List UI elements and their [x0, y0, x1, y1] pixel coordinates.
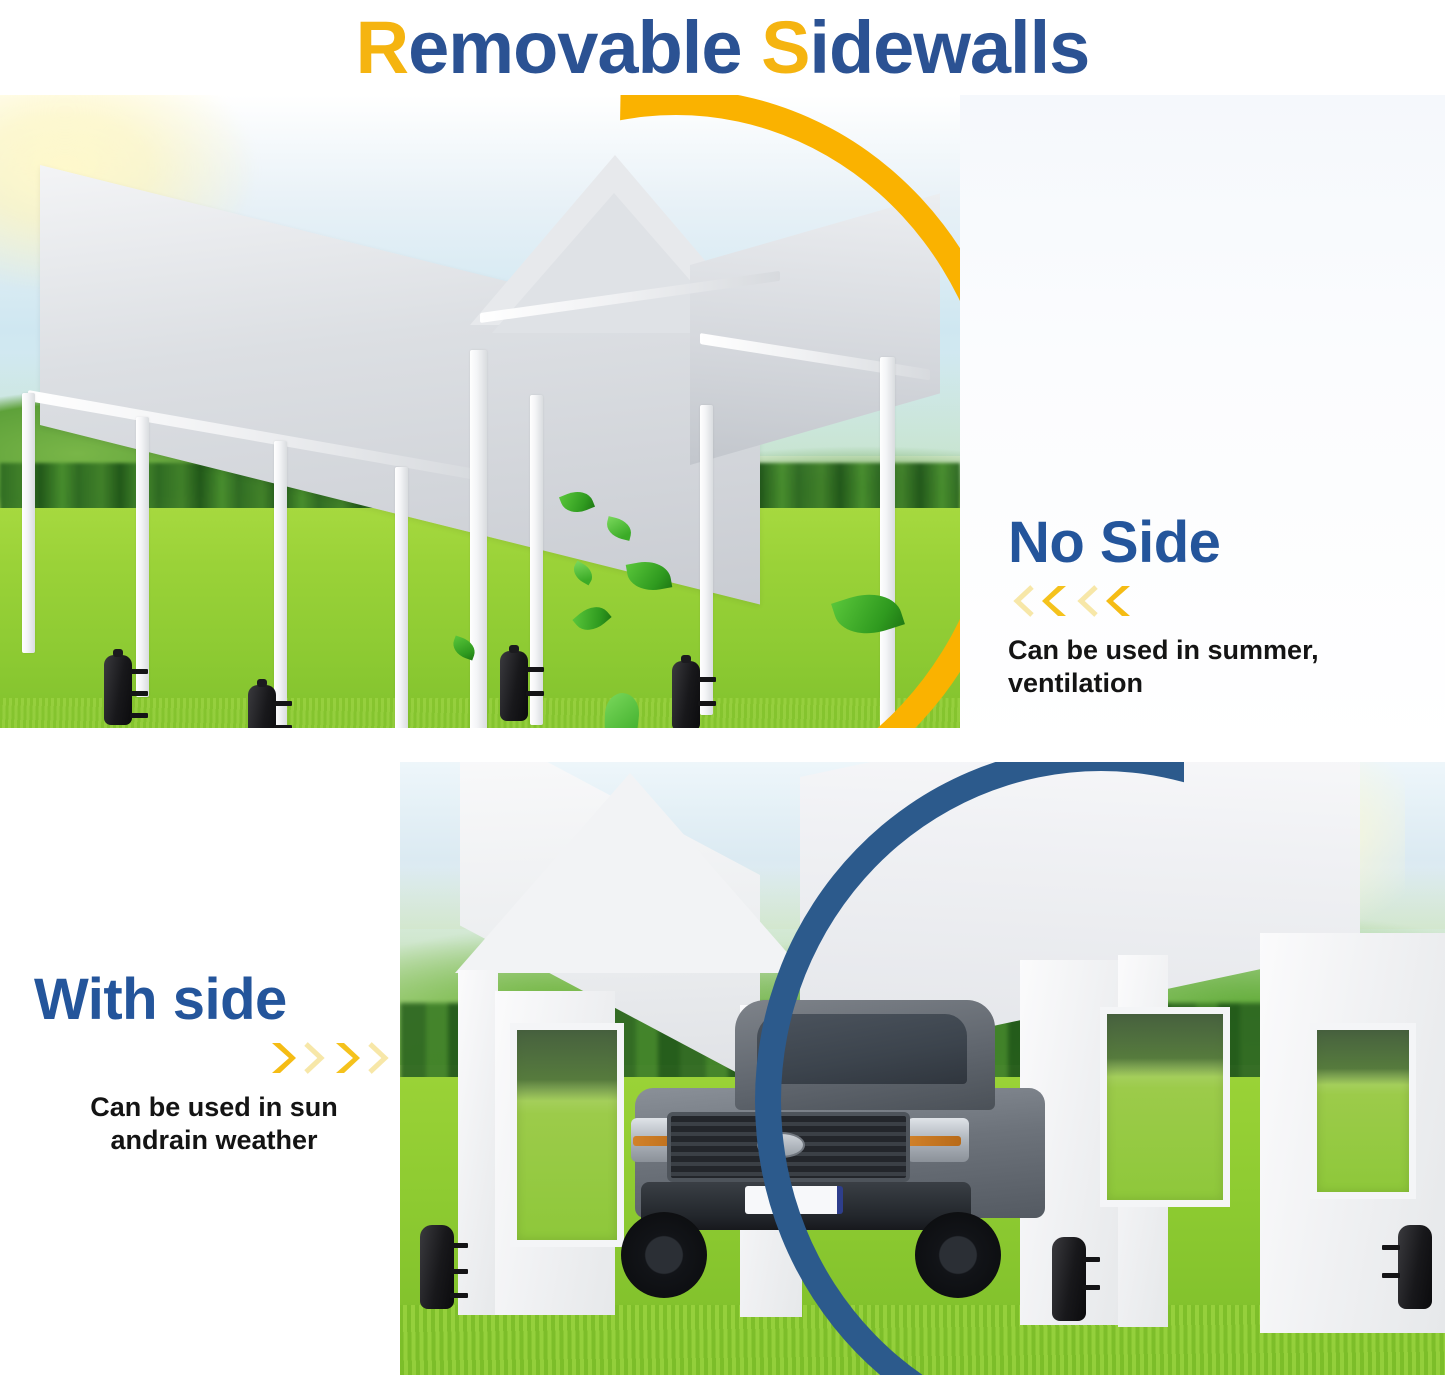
sandbag-weight: [672, 661, 700, 731]
sandbag-strap: [1082, 1285, 1100, 1290]
sandbag-strap: [1382, 1273, 1400, 1278]
chevron-right-icon: [332, 1041, 362, 1075]
chevron-left-icon: [1008, 584, 1038, 618]
with-side-body-line-2: andrain weather: [34, 1124, 394, 1157]
sandbag-weight: [1398, 1225, 1432, 1309]
sandbag-strap: [1382, 1245, 1400, 1250]
truck-license-plate: [745, 1186, 843, 1214]
canopy-pole-4: [395, 467, 408, 740]
no-side-body-text: Can be used in summer, ventilation: [1008, 634, 1428, 700]
sandbag-weight: [1052, 1237, 1086, 1321]
carport-walled-photo: [400, 755, 1445, 1375]
title-part-3: S: [761, 6, 809, 89]
sidewall-window: [1100, 1007, 1230, 1207]
with-side-heading: With side: [34, 970, 394, 1031]
poster-title-bar: Removable Sidewalls: [0, 0, 1445, 95]
sandbag-weight: [420, 1225, 454, 1309]
chevron-left-group: [1008, 582, 1428, 620]
canopy-pole-5: [470, 350, 487, 740]
page-title: Removable Sidewalls: [356, 11, 1090, 85]
truck-wheel-front: [621, 1212, 707, 1298]
truck-badge-icon: [757, 1132, 805, 1158]
no-side-callout: No Side Can be used in summer, ventilati…: [1008, 513, 1428, 700]
chevron-left-icon: [1072, 584, 1102, 618]
sidewall-front-left: [458, 970, 498, 1315]
sandbag-strap: [698, 677, 716, 682]
canopy-pole-7: [700, 405, 713, 715]
chevron-right-icon: [268, 1041, 298, 1075]
truck-wheel-rear: [915, 1212, 1001, 1298]
sandbag-weight: [104, 655, 132, 725]
sandbag-strap: [130, 691, 148, 696]
sandbag-strap: [698, 701, 716, 706]
window-shade: [517, 1030, 617, 1101]
sandbag-strap: [274, 701, 292, 706]
canopy-pole-1: [22, 393, 35, 653]
sandbag-strap: [526, 667, 544, 672]
carport-open-photo: [0, 95, 960, 740]
sandbag-strap: [526, 691, 544, 696]
sandbag-strap: [450, 1269, 468, 1274]
title-part-1: R: [356, 6, 408, 89]
title-part-4: idewalls: [809, 6, 1089, 89]
canopy-pole-6: [530, 395, 543, 725]
canopy-pole-8: [880, 357, 895, 737]
sandbag-strap: [1082, 1257, 1100, 1262]
product-feature-poster: Removable Sidewalls: [0, 0, 1445, 1375]
sandbag-strap: [130, 669, 148, 674]
truck-windshield: [757, 1014, 967, 1084]
sandbag-strap: [450, 1243, 468, 1248]
chevron-left-icon: [1104, 584, 1134, 618]
window-shade: [1107, 1014, 1223, 1077]
no-side-section: No Side Can be used in summer, ventilati…: [0, 95, 1445, 755]
section-divider: [0, 728, 1445, 762]
chevron-right-icon: [364, 1041, 394, 1075]
sandbag-strap: [450, 1293, 468, 1298]
truck-marker-light-right: [905, 1136, 961, 1146]
sidewall-window: [1310, 1023, 1416, 1199]
canopy-gable: [455, 773, 805, 973]
canopy-pole-2: [136, 417, 149, 697]
no-side-heading: No Side: [1008, 513, 1428, 574]
chevron-right-icon: [300, 1041, 330, 1075]
pickup-truck: [615, 1000, 1055, 1300]
sandbag-strap: [130, 713, 148, 718]
sidewall-window: [510, 1023, 624, 1247]
with-side-callout: With side Can be used in sun andrain wea…: [34, 970, 394, 1157]
with-side-body-line-1: Can be used in sun: [34, 1091, 394, 1124]
window-shade: [1317, 1030, 1409, 1085]
chevron-right-group: [34, 1039, 394, 1077]
with-side-section: With side Can be used in sun andrain wea…: [0, 755, 1445, 1375]
title-part-2: emovable: [408, 6, 761, 89]
chevron-left-icon: [1040, 584, 1070, 618]
sandbag-weight: [500, 651, 528, 721]
